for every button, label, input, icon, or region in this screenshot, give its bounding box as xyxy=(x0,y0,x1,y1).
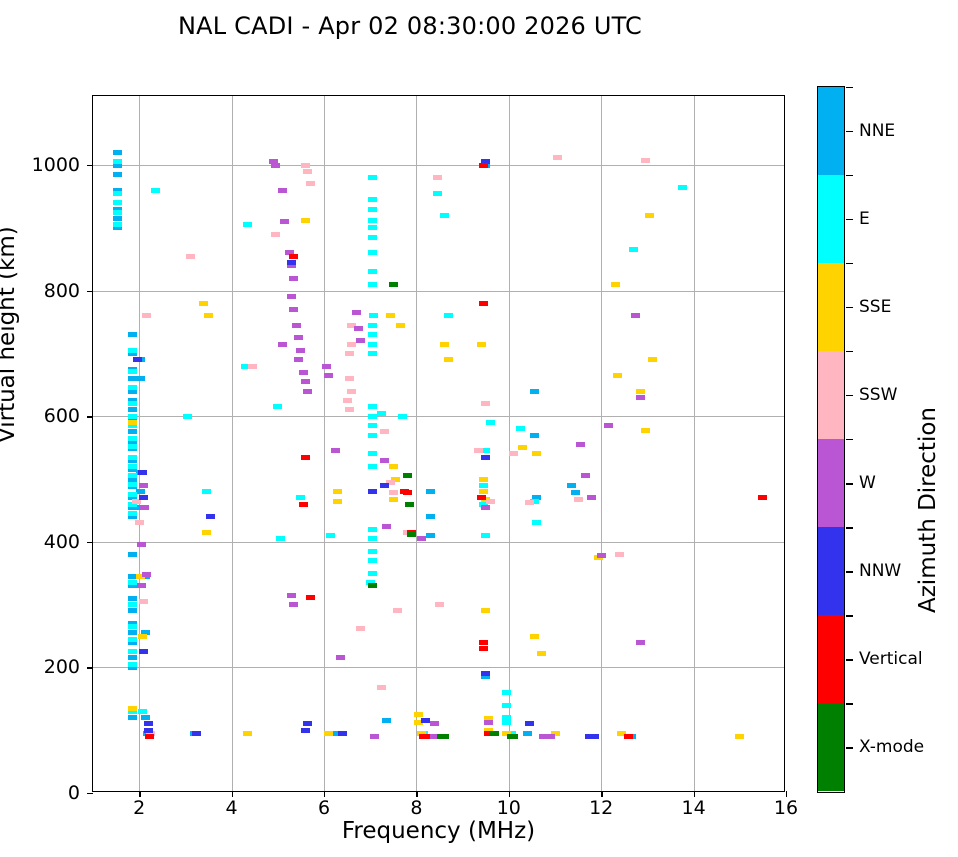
colorbar-boundary-tick xyxy=(846,175,853,176)
data-marker xyxy=(306,595,315,600)
data-marker xyxy=(368,527,377,532)
data-marker xyxy=(151,188,160,193)
gridline-vertical xyxy=(416,96,417,791)
data-marker xyxy=(128,630,137,635)
data-marker xyxy=(202,489,211,494)
data-marker xyxy=(636,640,645,645)
data-marker xyxy=(530,634,539,639)
data-marker xyxy=(301,163,310,168)
data-marker xyxy=(113,222,122,227)
y-tick xyxy=(87,165,93,166)
data-marker xyxy=(481,533,490,538)
data-marker xyxy=(516,426,525,431)
data-marker xyxy=(440,213,449,218)
data-marker xyxy=(377,411,386,416)
y-tick-label: 600 xyxy=(44,405,80,427)
gridline-vertical xyxy=(694,96,695,791)
data-marker xyxy=(525,721,534,726)
data-marker xyxy=(294,357,303,362)
data-marker xyxy=(289,602,298,607)
gridline-horizontal xyxy=(93,542,784,543)
data-marker xyxy=(202,530,211,535)
data-marker xyxy=(486,420,495,425)
data-marker xyxy=(479,477,488,482)
data-marker xyxy=(128,332,137,337)
data-marker xyxy=(128,414,137,419)
colorbar-tick xyxy=(846,483,853,484)
data-marker xyxy=(128,655,137,660)
data-marker xyxy=(380,458,389,463)
colorbar-tick xyxy=(846,659,853,660)
data-marker xyxy=(389,490,398,495)
data-marker xyxy=(139,483,148,488)
data-marker xyxy=(435,602,444,607)
data-marker xyxy=(377,685,386,690)
data-marker xyxy=(192,731,201,736)
data-marker xyxy=(128,473,137,478)
data-marker xyxy=(567,483,576,488)
data-marker xyxy=(324,373,333,378)
data-marker xyxy=(326,533,335,538)
colorbar-label-e: E xyxy=(859,209,870,229)
data-marker xyxy=(368,225,377,230)
data-marker xyxy=(477,495,486,500)
y-tick-label: 0 xyxy=(68,782,80,804)
data-marker xyxy=(403,473,412,478)
data-marker xyxy=(368,197,377,202)
data-marker xyxy=(289,254,298,259)
data-marker xyxy=(574,497,583,502)
data-marker xyxy=(287,593,296,598)
data-marker xyxy=(481,608,490,613)
data-marker xyxy=(421,734,430,739)
data-marker xyxy=(509,734,518,739)
data-marker xyxy=(292,323,301,328)
data-marker xyxy=(430,721,439,726)
data-marker xyxy=(502,720,511,725)
colorbar-label-ssw: SSW xyxy=(859,385,897,405)
data-marker xyxy=(368,489,377,494)
data-marker xyxy=(368,583,377,588)
data-marker xyxy=(407,532,416,537)
colorbar-tick xyxy=(846,307,853,308)
data-marker xyxy=(403,490,412,495)
data-marker xyxy=(333,489,342,494)
data-marker xyxy=(645,213,654,218)
data-marker xyxy=(343,398,352,403)
colorbar: NNEESSESSWWNNWVerticalX-mode xyxy=(817,86,845,793)
data-marker xyxy=(479,640,488,645)
data-marker xyxy=(138,470,147,475)
data-marker xyxy=(322,364,331,369)
colorbar-boundary-tick xyxy=(846,615,853,616)
data-marker xyxy=(389,464,398,469)
colorbar-boundary-tick xyxy=(846,263,853,264)
data-marker xyxy=(509,451,518,456)
data-marker xyxy=(345,376,354,381)
data-marker xyxy=(417,536,426,541)
data-marker xyxy=(525,500,534,505)
data-marker xyxy=(629,247,638,252)
data-marker xyxy=(368,404,377,409)
x-tick-label: 14 xyxy=(682,797,706,819)
data-marker xyxy=(137,583,146,588)
data-marker xyxy=(128,420,137,425)
colorbar-segment-nne xyxy=(818,87,844,175)
gridline-vertical xyxy=(601,96,602,791)
y-tick xyxy=(87,667,93,668)
data-marker xyxy=(479,646,488,651)
data-marker xyxy=(368,558,377,563)
x-axis-title: Frequency (MHz) xyxy=(92,818,785,844)
data-marker xyxy=(331,448,340,453)
data-marker xyxy=(299,502,308,507)
data-marker xyxy=(678,185,687,190)
data-marker xyxy=(356,626,365,631)
data-marker xyxy=(289,276,298,281)
data-marker xyxy=(287,294,296,299)
data-marker xyxy=(479,489,488,494)
data-marker xyxy=(368,269,377,274)
data-marker xyxy=(490,731,499,736)
data-marker xyxy=(641,428,650,433)
data-marker xyxy=(613,373,622,378)
data-marker xyxy=(481,671,490,676)
y-tick-label: 400 xyxy=(44,531,80,553)
data-marker xyxy=(128,369,137,374)
data-marker xyxy=(139,649,148,654)
data-marker xyxy=(139,495,148,500)
data-marker xyxy=(128,455,137,460)
data-marker xyxy=(128,552,137,557)
x-tick-label: 16 xyxy=(774,797,798,819)
data-marker xyxy=(368,235,377,240)
data-marker xyxy=(433,175,442,180)
data-marker xyxy=(128,511,137,516)
data-marker xyxy=(128,348,137,353)
data-marker xyxy=(758,495,767,500)
colorbar-boundary-tick xyxy=(846,351,853,352)
data-marker xyxy=(128,602,137,607)
data-marker xyxy=(128,715,137,720)
data-marker xyxy=(369,313,378,318)
data-marker xyxy=(199,301,208,306)
data-marker xyxy=(368,332,377,337)
data-marker xyxy=(278,342,287,347)
data-marker xyxy=(368,218,377,223)
gridline-horizontal xyxy=(93,291,784,292)
data-marker xyxy=(368,571,377,576)
data-marker xyxy=(248,364,257,369)
data-marker xyxy=(276,536,285,541)
data-marker xyxy=(113,159,122,164)
data-marker xyxy=(581,473,590,478)
data-marker xyxy=(206,514,215,519)
data-marker xyxy=(624,734,633,739)
data-marker xyxy=(128,706,137,711)
data-marker xyxy=(484,720,493,725)
x-tick-label: 10 xyxy=(497,797,521,819)
data-marker xyxy=(414,712,423,717)
data-marker xyxy=(426,533,435,538)
data-marker xyxy=(294,335,303,340)
plot-canvas xyxy=(93,96,784,791)
colorbar-boundary-tick xyxy=(846,703,853,704)
data-marker xyxy=(389,282,398,287)
data-marker xyxy=(368,464,377,469)
data-marker xyxy=(278,188,287,193)
data-marker xyxy=(368,323,377,328)
gridline-horizontal xyxy=(93,165,784,166)
y-tick-label: 800 xyxy=(44,280,80,302)
data-marker xyxy=(128,492,137,497)
data-marker xyxy=(393,608,402,613)
colorbar-boundary-tick xyxy=(846,439,853,440)
data-marker xyxy=(145,734,154,739)
y-tick xyxy=(87,793,93,794)
data-marker xyxy=(571,490,580,495)
data-marker xyxy=(576,442,585,447)
data-marker xyxy=(386,313,395,318)
gridline-vertical xyxy=(232,96,233,791)
data-marker xyxy=(368,351,377,356)
colorbar-label-w: W xyxy=(859,473,876,493)
data-marker xyxy=(477,342,486,347)
data-marker xyxy=(303,169,312,174)
data-marker xyxy=(433,191,442,196)
data-marker xyxy=(426,514,435,519)
data-marker xyxy=(444,313,453,318)
data-marker xyxy=(301,728,310,733)
data-marker xyxy=(113,216,122,221)
colorbar-tick xyxy=(846,571,853,572)
data-marker xyxy=(648,357,657,362)
data-marker xyxy=(611,282,620,287)
data-marker xyxy=(128,624,137,629)
gridline-horizontal xyxy=(93,416,784,417)
data-marker xyxy=(398,414,407,419)
data-marker xyxy=(128,662,137,667)
data-marker xyxy=(135,520,144,525)
ionogram-plot: 24681012141602004006008001000 xyxy=(92,95,785,792)
data-marker xyxy=(345,407,354,412)
data-marker xyxy=(405,502,414,507)
data-marker xyxy=(204,313,213,318)
data-marker xyxy=(128,401,137,406)
x-tick-label: 2 xyxy=(133,797,145,819)
data-marker xyxy=(128,385,137,390)
data-marker xyxy=(479,483,488,488)
data-marker xyxy=(303,721,312,726)
data-marker xyxy=(273,404,282,409)
y-tick xyxy=(87,291,93,292)
data-marker xyxy=(530,389,539,394)
data-marker xyxy=(347,389,356,394)
data-marker xyxy=(352,310,361,315)
data-marker xyxy=(553,155,562,160)
gridline-vertical xyxy=(509,96,510,791)
data-marker xyxy=(289,307,298,312)
data-marker xyxy=(368,451,377,456)
data-marker xyxy=(396,323,405,328)
data-marker xyxy=(133,357,142,362)
colorbar-label-nne: NNE xyxy=(859,121,895,141)
data-marker xyxy=(631,313,640,318)
data-marker xyxy=(128,637,137,642)
data-marker xyxy=(368,414,377,419)
data-marker xyxy=(113,172,122,177)
data-marker xyxy=(368,207,377,212)
data-marker xyxy=(481,505,490,510)
data-marker xyxy=(183,414,192,419)
data-marker xyxy=(144,721,153,726)
page-title: NAL CADI - Apr 02 08:30:00 2026 UTC xyxy=(0,12,820,40)
data-marker xyxy=(296,348,305,353)
data-marker xyxy=(138,634,147,639)
data-marker xyxy=(128,444,137,449)
colorbar-tick xyxy=(846,131,853,132)
y-axis-title: Virtual height (km) xyxy=(0,226,20,443)
data-marker xyxy=(113,210,122,215)
data-marker xyxy=(486,499,495,504)
data-marker xyxy=(139,599,148,604)
data-marker xyxy=(324,731,333,736)
data-marker xyxy=(140,505,149,510)
data-marker xyxy=(128,429,137,434)
data-marker xyxy=(128,649,137,654)
colorbar-boundary-tick xyxy=(846,527,853,528)
data-marker xyxy=(735,734,744,739)
colorbar-segment-ssw xyxy=(818,351,844,439)
data-marker xyxy=(518,445,527,450)
data-marker xyxy=(299,370,308,375)
data-marker xyxy=(287,260,296,265)
colorbar-boundary-tick xyxy=(846,87,853,88)
data-marker xyxy=(303,389,312,394)
x-tick-label: 8 xyxy=(410,797,422,819)
data-marker xyxy=(370,734,379,739)
data-marker xyxy=(537,651,546,656)
data-marker xyxy=(502,703,511,708)
y-tick xyxy=(87,542,93,543)
data-marker xyxy=(144,728,153,733)
data-marker xyxy=(336,655,345,660)
data-marker xyxy=(641,158,650,163)
colorbar-segment-e xyxy=(818,175,844,263)
x-tick-label: 12 xyxy=(589,797,613,819)
colorbar-label-x-mode: X-mode xyxy=(859,737,924,757)
data-marker xyxy=(128,464,137,469)
data-marker xyxy=(271,163,280,168)
data-marker xyxy=(597,553,606,558)
x-tick-label: 6 xyxy=(318,797,330,819)
colorbar-title: Azimuth Direction xyxy=(915,407,941,613)
colorbar-segment-x-mode xyxy=(818,703,844,791)
data-marker xyxy=(113,150,122,155)
data-marker xyxy=(440,734,449,739)
data-marker xyxy=(523,731,532,736)
colorbar-segment-nnw xyxy=(818,527,844,615)
data-marker xyxy=(113,191,122,196)
data-marker xyxy=(128,482,137,487)
data-marker xyxy=(368,250,377,255)
data-marker xyxy=(142,572,151,577)
data-marker xyxy=(380,429,389,434)
colorbar-label-nnw: NNW xyxy=(859,561,901,581)
data-marker xyxy=(142,313,151,318)
data-marker xyxy=(444,357,453,362)
colorbar-segment-sse xyxy=(818,263,844,351)
data-marker xyxy=(306,181,315,186)
data-marker xyxy=(426,489,435,494)
data-marker xyxy=(137,542,146,547)
data-marker xyxy=(345,351,354,356)
data-marker xyxy=(128,608,137,613)
data-marker xyxy=(301,455,310,460)
data-marker xyxy=(636,389,645,394)
data-marker xyxy=(113,200,122,205)
colorbar-tick xyxy=(846,395,853,396)
data-marker xyxy=(474,448,483,453)
data-marker xyxy=(243,222,252,227)
data-marker xyxy=(271,232,280,237)
colorbar-label-vertical: Vertical xyxy=(859,649,923,669)
data-marker xyxy=(128,596,137,601)
data-marker xyxy=(532,451,541,456)
data-marker xyxy=(333,499,342,504)
data-marker xyxy=(128,580,137,585)
data-marker xyxy=(301,218,310,223)
data-marker xyxy=(389,497,398,502)
data-marker xyxy=(382,524,391,529)
colorbar-segment-vertical xyxy=(818,615,844,703)
colorbar-label-sse: SSE xyxy=(859,297,891,317)
data-marker xyxy=(338,731,347,736)
data-marker xyxy=(368,342,377,347)
y-tick-label: 1000 xyxy=(32,154,80,176)
colorbar-segment-w xyxy=(818,439,844,527)
data-marker xyxy=(368,175,377,180)
data-marker xyxy=(368,282,377,287)
y-tick-label: 200 xyxy=(44,656,80,678)
data-marker xyxy=(382,718,391,723)
data-marker xyxy=(356,338,365,343)
data-marker xyxy=(481,455,490,460)
data-marker xyxy=(141,715,150,720)
data-marker xyxy=(587,495,596,500)
data-marker xyxy=(479,163,488,168)
data-marker xyxy=(590,734,599,739)
data-marker xyxy=(479,301,488,306)
colorbar-tick xyxy=(846,747,853,748)
data-marker xyxy=(636,395,645,400)
data-marker xyxy=(368,549,377,554)
data-marker xyxy=(604,423,613,428)
data-marker xyxy=(532,520,541,525)
data-marker xyxy=(440,342,449,347)
data-marker xyxy=(368,536,377,541)
data-marker xyxy=(136,376,145,381)
data-marker xyxy=(530,433,539,438)
data-marker xyxy=(368,423,377,428)
x-tick-label: 4 xyxy=(226,797,238,819)
data-marker xyxy=(368,433,377,438)
data-marker xyxy=(128,436,137,441)
gridline-vertical xyxy=(139,96,140,791)
data-marker xyxy=(615,552,624,557)
y-tick xyxy=(87,416,93,417)
data-marker xyxy=(421,718,430,723)
